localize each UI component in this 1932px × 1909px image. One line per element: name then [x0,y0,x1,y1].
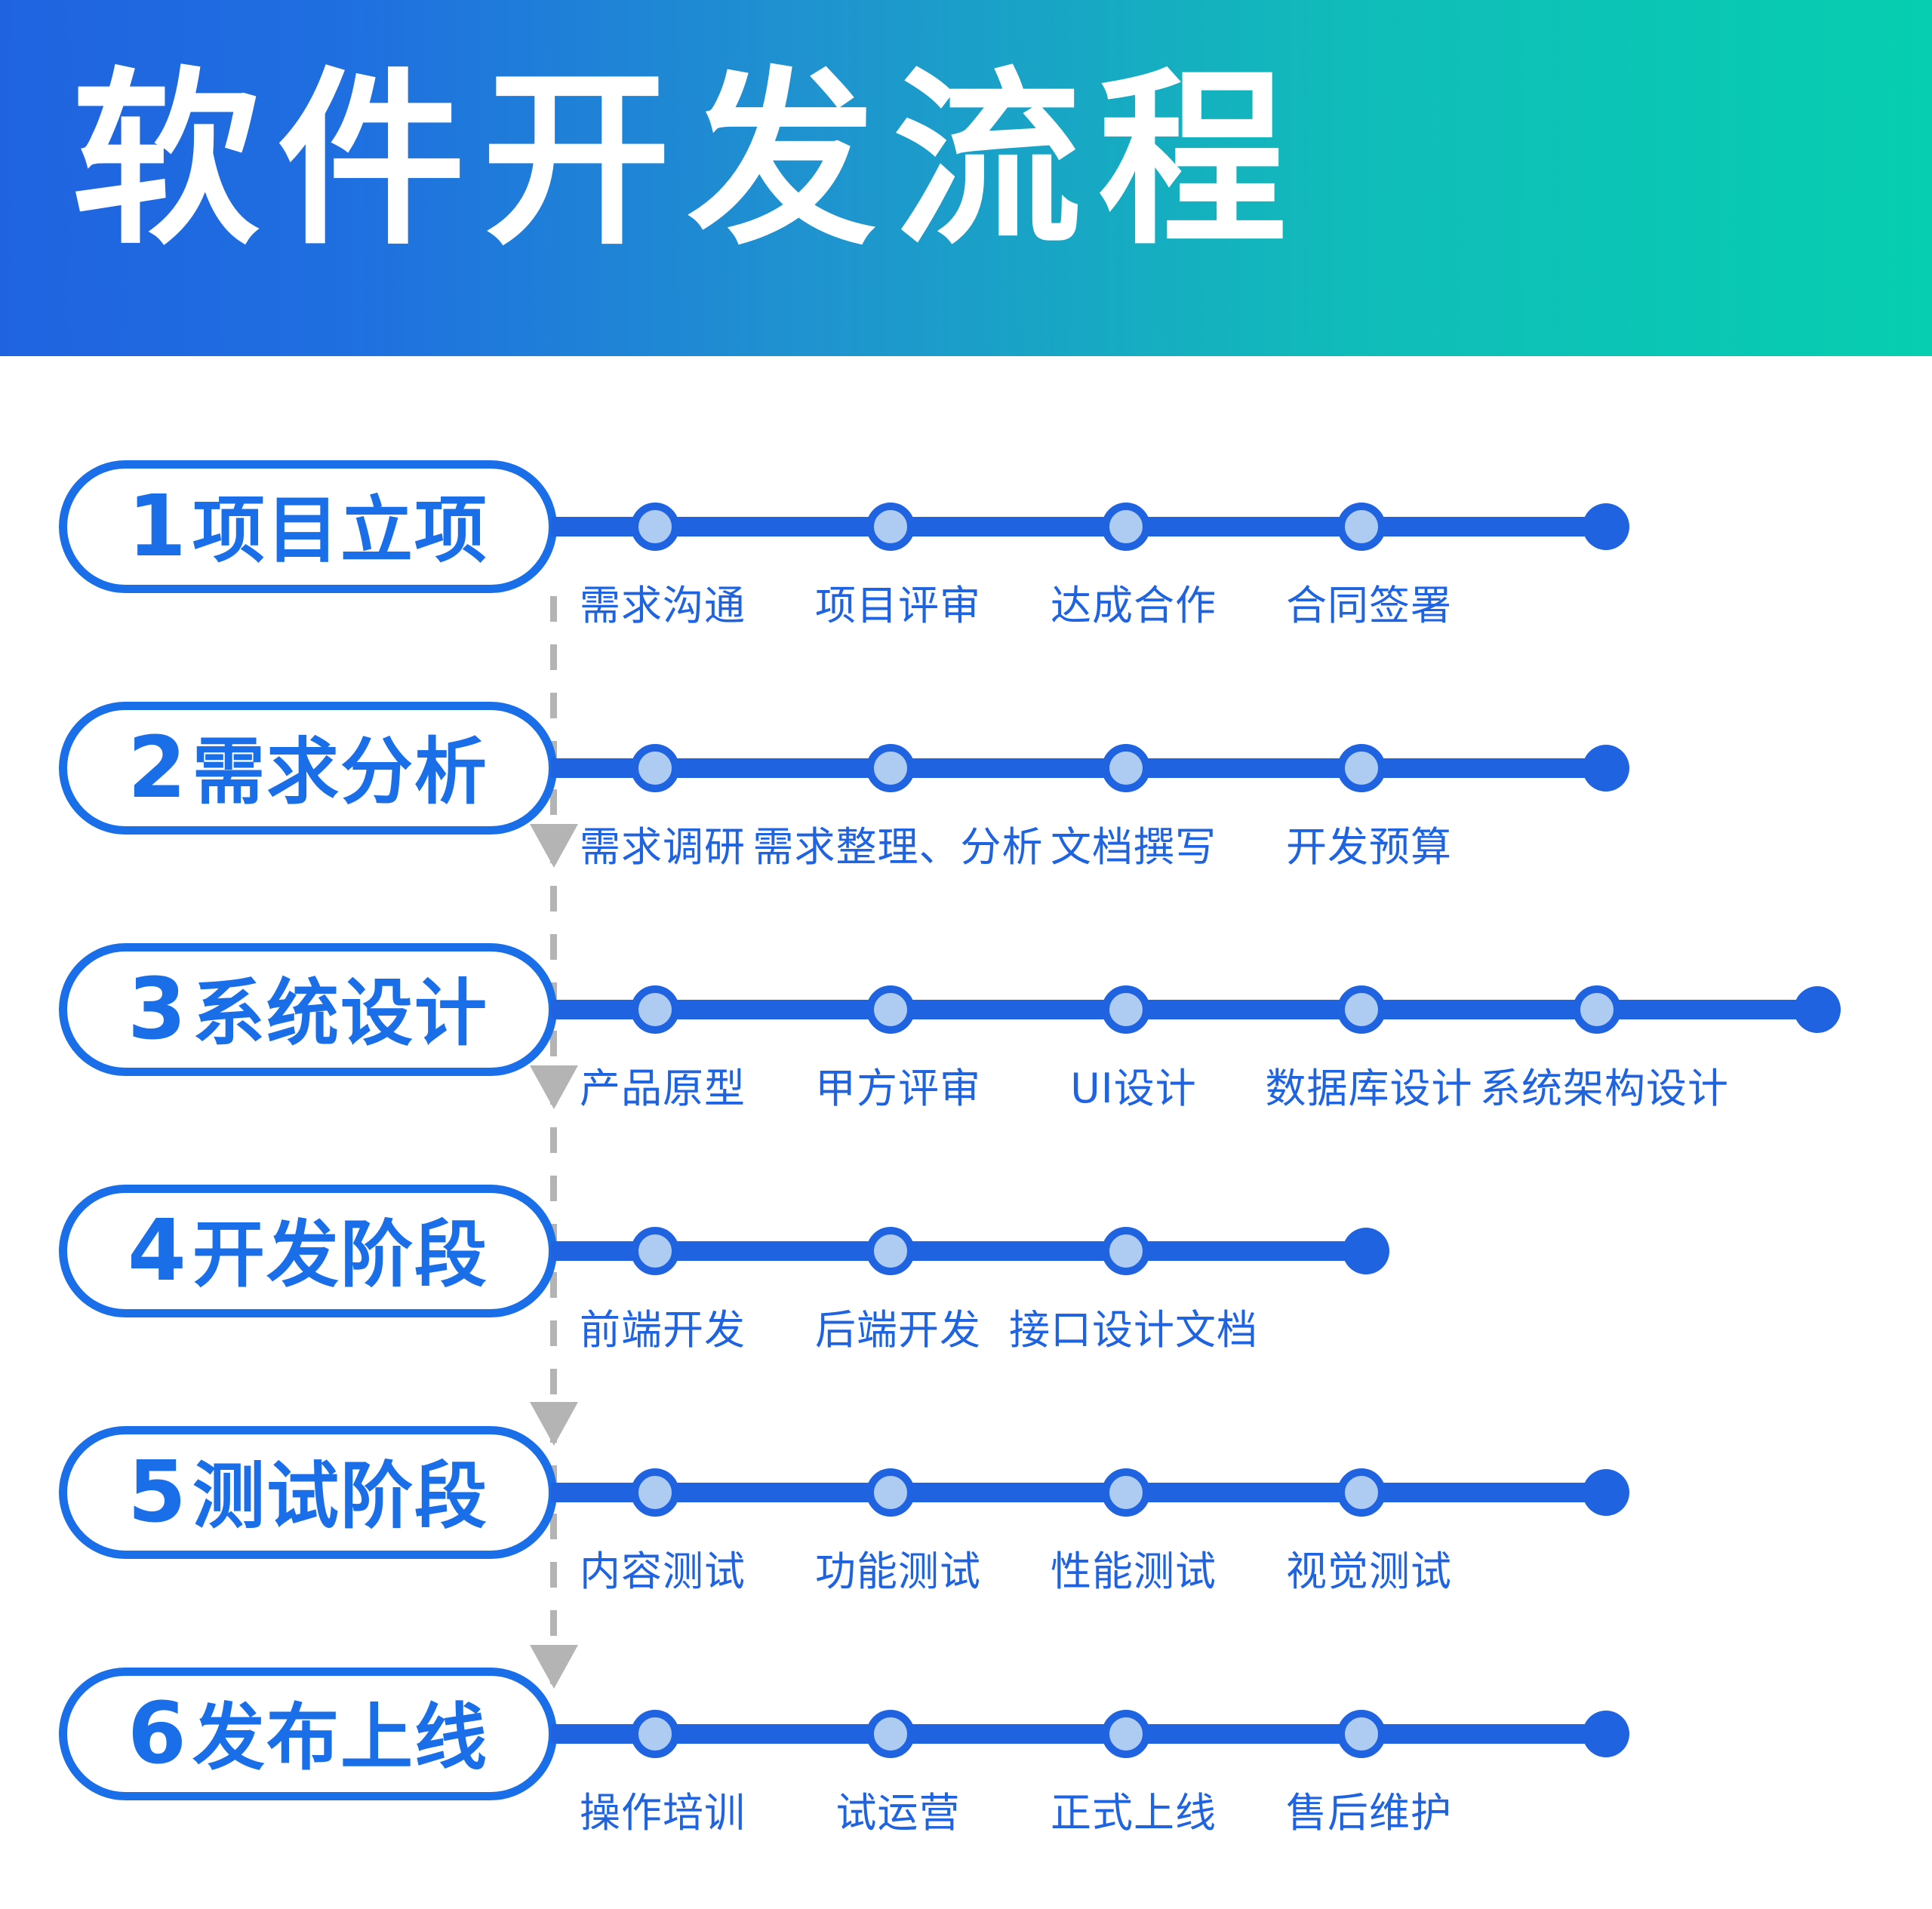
stage-row: 5测试阶段内容测试功能测试性能测试视觉测试 [0,1426,1932,1668]
track-end-cap [1583,503,1629,550]
step-node[interactable] [1102,1468,1150,1517]
stage-pill-content: 4开发阶段 [128,1209,488,1293]
step-label: 需求沟通 [580,572,746,632]
step-label: UI设计 [1070,1055,1196,1114]
step-node[interactable] [1337,1468,1386,1517]
step-node[interactable] [866,1710,915,1758]
step-label: 内容测试 [580,1538,746,1597]
stage-row: 6发布上线操作培训试运营正式上线售后维护 [0,1668,1932,1909]
stage-pill-content: 3系统设计 [128,967,488,1052]
stage-label: 发布上线 [192,1701,488,1774]
stage-track-line [551,517,1606,536]
stage-label: 项目立项 [192,494,488,567]
stage-row: 4开发阶段前端开发后端开发接口设计文档 [0,1185,1932,1426]
stage-number: 5 [128,1450,186,1535]
step-node[interactable] [866,503,915,551]
track-end-cap [1583,1469,1629,1516]
stage-label: 测试阶段 [192,1460,488,1532]
step-node[interactable] [631,503,679,551]
step-label: 系统架构设计 [1480,1055,1729,1114]
track-end-cap [1583,1711,1629,1757]
step-node[interactable] [1337,985,1386,1034]
step-label: 性能测试 [1051,1538,1217,1597]
stage-label: 需求分析 [192,736,488,808]
step-node[interactable] [631,985,679,1034]
step-node[interactable] [631,1227,679,1275]
step-node[interactable] [866,985,915,1034]
step-node[interactable] [866,1468,915,1517]
stage-number: 4 [128,1209,186,1293]
stage-number: 6 [128,1692,186,1776]
step-label: 项目评审 [815,572,981,632]
step-label: 前端开发 [580,1296,746,1356]
stage-label: 开发阶段 [192,1219,488,1291]
step-label: 试运营 [836,1779,961,1839]
track-end-cap [1794,986,1841,1033]
step-label: 视觉测试 [1286,1538,1452,1597]
step-label: 数据库设计 [1266,1055,1473,1114]
step-node[interactable] [1102,1227,1150,1275]
stage-number: 2 [128,726,186,810]
step-label: 开发预算 [1286,813,1452,873]
step-node[interactable] [1337,503,1386,551]
stage-pill-6[interactable]: 6发布上线 [59,1668,557,1800]
step-label: 合同签署 [1286,572,1452,632]
step-label: 产品原型 [580,1055,746,1114]
step-node[interactable] [1573,985,1621,1034]
stage-track-line [551,1483,1606,1502]
step-label: 达成合作 [1051,572,1217,632]
stage-row: 1项目立项需求沟通项目评审达成合作合同签署 [0,460,1932,702]
step-label: 甲方评审 [815,1055,981,1114]
step-node[interactable] [1102,744,1150,792]
stage-pill-content: 2需求分析 [128,726,488,810]
step-label: 售后维护 [1286,1779,1452,1839]
step-node[interactable] [866,1227,915,1275]
page-title: 软件开发流程 [72,36,1303,285]
stage-pill-content: 5测试阶段 [128,1450,488,1535]
step-node[interactable] [866,744,915,792]
track-end-cap [1343,1228,1389,1274]
stage-pill-3[interactable]: 3系统设计 [59,943,557,1076]
header-banner: 软件开发流程 [0,0,1932,356]
step-node[interactable] [1102,503,1150,551]
stage-row: 3系统设计产品原型甲方评审UI设计数据库设计系统架构设计 [0,943,1932,1185]
step-node[interactable] [631,1710,679,1758]
step-node[interactable] [1102,985,1150,1034]
step-label: 需求整理、分析 [753,813,1044,873]
stage-pill-2[interactable]: 2需求分析 [59,702,557,835]
stage-pill-1[interactable]: 1项目立项 [59,460,557,593]
step-label: 文档撰写 [1051,813,1217,873]
infographic-page: 软件开发流程 1项目立项需求沟通项目评审达成合作合同签署2需求分析需求调研需求整… [0,0,1932,1909]
stage-pill-content: 1项目立项 [128,484,488,569]
stage-number: 3 [128,967,186,1052]
step-label: 操作培训 [580,1779,746,1839]
stage-number: 1 [128,484,186,569]
step-node[interactable] [631,1468,679,1517]
step-label: 后端开发 [815,1296,981,1356]
stage-pill-content: 6发布上线 [128,1692,488,1776]
stage-pill-4[interactable]: 4开发阶段 [59,1185,557,1317]
step-label: 需求调研 [580,813,746,873]
step-node[interactable] [1337,744,1386,792]
stage-track-line [551,758,1606,778]
stage-track-line [551,1000,1817,1019]
step-label: 正式上线 [1051,1779,1217,1839]
stage-pill-5[interactable]: 5测试阶段 [59,1426,557,1559]
stage-label: 系统设计 [192,977,488,1050]
track-end-cap [1583,745,1629,792]
step-label: 接口设计文档 [1009,1296,1258,1356]
stage-track-line [551,1724,1606,1744]
step-node[interactable] [631,744,679,792]
step-node[interactable] [1102,1710,1150,1758]
stage-row: 2需求分析需求调研需求整理、分析文档撰写开发预算 [0,702,1932,943]
step-node[interactable] [1337,1710,1386,1758]
step-label: 功能测试 [815,1538,981,1597]
